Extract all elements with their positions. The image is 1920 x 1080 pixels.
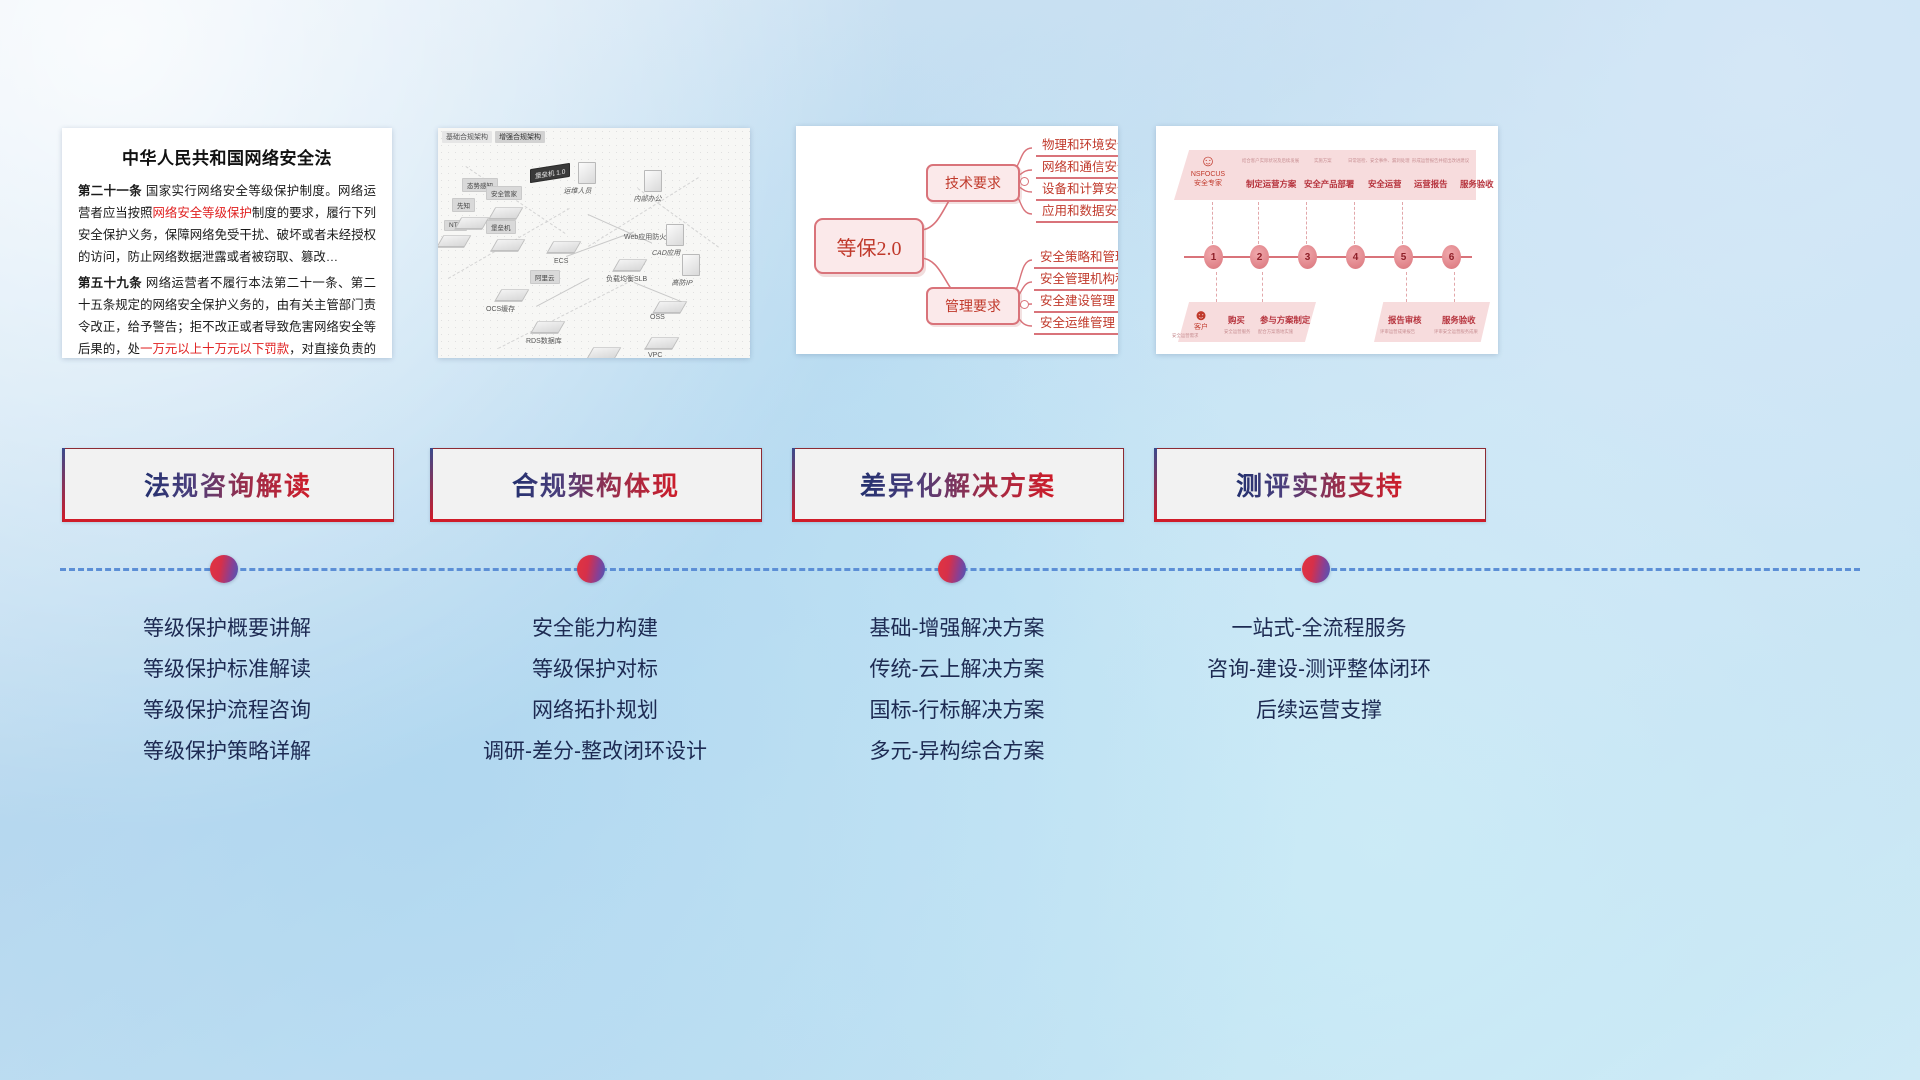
bullet-item: 一站式-全流程服务 bbox=[1154, 608, 1484, 649]
node-icon bbox=[616, 256, 644, 274]
node-icon bbox=[648, 334, 676, 352]
heading-box-2[interactable]: 合规架构体现 bbox=[430, 448, 762, 522]
nsfocus-step-number[interactable]: 6 bbox=[1442, 245, 1461, 269]
nsfocus-bottom-title: 服务验收 bbox=[1442, 314, 1476, 326]
node-label: 高防IP bbox=[671, 278, 694, 288]
nsfocus-bottom-sub: 配合方案落地实施 bbox=[1258, 329, 1293, 335]
bullet-item: 等级保护概要讲解 bbox=[62, 608, 392, 649]
nsfocus-drop-line bbox=[1354, 202, 1355, 244]
node-icon bbox=[682, 254, 700, 276]
bullet-item: 多元-异构综合方案 bbox=[792, 731, 1122, 772]
nsfocus-bottom-title: 报告审核 bbox=[1388, 314, 1422, 326]
node-label: OCS缓存 bbox=[486, 304, 515, 314]
bullet-item: 网络拓扑规划 bbox=[430, 690, 760, 731]
node-label: VPC bbox=[648, 352, 662, 358]
node-label: 内部办公 bbox=[633, 194, 663, 204]
law-document-card: 中华人民共和国网络安全法 第二十一条 国家实行网络安全等级保护制度。网络运营者应… bbox=[62, 128, 392, 358]
nsfocus-timeline-card: ☺ NSFOCUS 安全专家 结合客户实际状况及后续发展 制定运营方案 实施方案… bbox=[1156, 126, 1498, 354]
law-title: 中华人民共和国网络安全法 bbox=[78, 144, 376, 169]
timeline-dot-3[interactable] bbox=[938, 555, 966, 583]
nsfocus-role-sub: 安全运营需求 bbox=[1172, 333, 1198, 339]
nsfocus-step-title: 安全产品部署 bbox=[1304, 178, 1354, 190]
timeline-dot-2[interactable] bbox=[577, 555, 605, 583]
nsfocus-step-number[interactable]: 5 bbox=[1394, 245, 1413, 269]
mindmap-leaf: 安全运维管理 bbox=[1034, 312, 1118, 335]
node-icon bbox=[666, 224, 684, 246]
nsfocus-bottom-sub: 安全运营服务 bbox=[1224, 329, 1250, 335]
node-icon bbox=[578, 162, 596, 184]
node-label: 堡垒机 bbox=[486, 220, 516, 234]
node-label: CAD应用 bbox=[651, 248, 682, 258]
law-article-label-21: 第二十一条 bbox=[78, 184, 142, 198]
bullet-item: 传统-云上解决方案 bbox=[792, 649, 1122, 690]
node-label: 运维人员 bbox=[563, 186, 593, 196]
bullet-column-3: 基础-增强解决方案 传统-云上解决方案 国标-行标解决方案 多元-异构综合方案 bbox=[792, 608, 1122, 772]
nsfocus-step-number[interactable]: 2 bbox=[1250, 245, 1269, 269]
bullet-item: 调研-差分-整改闭环设计 bbox=[430, 731, 760, 772]
heading-label-3: 差异化解决方案 bbox=[860, 466, 1056, 503]
node-label: OSS bbox=[650, 314, 665, 321]
nsfocus-drop-line bbox=[1454, 272, 1455, 302]
nsfocus-step-number[interactable]: 3 bbox=[1298, 245, 1317, 269]
bullet-item: 后续运营支撑 bbox=[1154, 690, 1484, 731]
bullet-item: 等级保护标准解读 bbox=[62, 649, 392, 690]
node-icon bbox=[590, 344, 618, 358]
node-label: 堡垒机 1.0 bbox=[530, 163, 570, 183]
bullet-column-4: 一站式-全流程服务 咨询-建设-测评整体闭环 后续运营支撑 bbox=[1154, 608, 1484, 731]
timeline-dot-1[interactable] bbox=[210, 555, 238, 583]
nsfocus-step-sub: 实施方案 bbox=[1314, 158, 1332, 164]
nsfocus-step-title: 运营报告 bbox=[1414, 178, 1448, 190]
node-label: 阿里云 bbox=[530, 270, 560, 284]
node-label: RDS数据库 bbox=[526, 336, 562, 346]
architecture-diagram: 堡垒机 1.0 态势感知 先知 NTA 安全管家 堡垒机 ECS OCS缓存 R… bbox=[438, 128, 750, 358]
nsfocus-step-title: 服务验收 bbox=[1460, 178, 1494, 190]
nsfocus-axis bbox=[1184, 256, 1472, 258]
nsfocus-bottom-sub: 评审运营成果报告 bbox=[1380, 329, 1415, 335]
bullet-column-2: 安全能力构建 等级保护对标 网络拓扑规划 调研-差分-整改闭环设计 bbox=[430, 608, 760, 772]
nsfocus-bottom-title: 购买 bbox=[1228, 314, 1245, 326]
nsfocus-step-sub: 形成运营报告并提出改进建议 bbox=[1412, 158, 1469, 164]
mindmap-leaf: 物理和环境安全 bbox=[1036, 134, 1118, 157]
nsfocus-customer-role: ☻ 客户 bbox=[1178, 308, 1224, 332]
mindmap-branch-technical: 技术要求 bbox=[926, 164, 1020, 202]
mindmap-leaf: 安全策略和管理制度 bbox=[1034, 246, 1118, 269]
node-icon bbox=[534, 318, 562, 336]
node-icon bbox=[458, 214, 486, 232]
nsfocus-role-label: 客户 bbox=[1194, 324, 1208, 331]
nsfocus-drop-line bbox=[1262, 272, 1263, 302]
mindmap-core-node: 等保2.0 bbox=[814, 218, 924, 274]
customer-icon: ☻ bbox=[1178, 308, 1224, 323]
nsfocus-drop-line bbox=[1306, 202, 1307, 244]
nsfocus-brand-sub: 安全专家 bbox=[1194, 180, 1222, 187]
heading-box-1[interactable]: 法规咨询解读 bbox=[62, 448, 394, 522]
nsfocus-drop-line bbox=[1406, 272, 1407, 302]
heading-box-3[interactable]: 差异化解决方案 bbox=[792, 448, 1124, 522]
mindmap-collapse-dot[interactable] bbox=[1020, 300, 1029, 309]
dengbao-mindmap-card: 等保2.0 技术要求 管理要求 物理和环境安全 网络和通信安全 设备和计算安全 … bbox=[796, 126, 1118, 354]
heading-box-4[interactable]: 测评实施支持 bbox=[1154, 448, 1486, 522]
bullet-item: 等级保护策略详解 bbox=[62, 731, 392, 772]
nsfocus-bottom-title: 参与方案制定 bbox=[1260, 314, 1310, 326]
bullet-item: 咨询-建设-测评整体闭环 bbox=[1154, 649, 1484, 690]
node-label: 负载均衡SLB bbox=[606, 274, 647, 284]
nsfocus-step-number[interactable]: 4 bbox=[1346, 245, 1365, 269]
nsfocus-brand: ☺ NSFOCUS 安全专家 bbox=[1184, 154, 1232, 188]
heading-label-4: 测评实施支持 bbox=[1236, 466, 1404, 503]
mindmap-leaf: 设备和计算安全 bbox=[1036, 178, 1118, 201]
bullet-item: 等级保护流程咨询 bbox=[62, 690, 392, 731]
bullet-item: 国标-行标解决方案 bbox=[792, 690, 1122, 731]
nsfocus-brand-name: NSFOCUS bbox=[1191, 171, 1225, 178]
law-paragraph-21: 第二十一条 国家实行网络安全等级保护制度。网络运营者应当按照网络安全等级保护制度… bbox=[78, 180, 376, 268]
node-label: 先知 bbox=[452, 198, 475, 212]
heading-label-2: 合规架构体现 bbox=[512, 466, 680, 503]
nsfocus-step-number[interactable]: 1 bbox=[1204, 245, 1223, 269]
law-highlight-21: 网络安全等级保护 bbox=[153, 206, 252, 220]
compliance-architecture-card: 基础合规架构 增强合规架构 堡垒机 1.0 态势感知 先知 NTA 安全管家 堡… bbox=[438, 128, 750, 358]
node-label: ECS bbox=[554, 258, 568, 265]
heading-label-1: 法规咨询解读 bbox=[144, 466, 312, 503]
nsfocus-bottom-sub: 评审安全运营服务成果 bbox=[1434, 329, 1478, 335]
node-icon bbox=[494, 236, 522, 254]
bullet-item: 等级保护对标 bbox=[430, 649, 760, 690]
nsfocus-step-sub: 结合客户实际状况及后续发展 bbox=[1242, 158, 1299, 164]
mindmap-branch-management: 管理要求 bbox=[926, 287, 1020, 325]
node-label: 安全管家 bbox=[486, 186, 522, 200]
nsfocus-step-title: 安全运营 bbox=[1368, 178, 1402, 190]
node-icon bbox=[440, 232, 468, 250]
mindmap-leaf: 应用和数据安全 bbox=[1036, 200, 1118, 223]
node-icon bbox=[550, 238, 578, 256]
mindmap-leaf: 网络和通信安全 bbox=[1036, 156, 1118, 179]
nsfocus-drop-line bbox=[1258, 202, 1259, 244]
mindmap-collapse-dot[interactable] bbox=[1020, 177, 1029, 186]
law-paragraph-59: 第五十九条 网络运营者不履行本法第二十一条、第二十五条规定的网络安全保护义务的，… bbox=[78, 272, 376, 358]
nsfocus-drop-line bbox=[1216, 272, 1217, 302]
mindmap-leaf: 安全管理机构和人员 bbox=[1034, 268, 1118, 291]
slide-canvas: 中华人民共和国网络安全法 第二十一条 国家实行网络安全等级保护制度。网络运营者应… bbox=[0, 0, 1920, 1080]
bullet-item: 安全能力构建 bbox=[430, 608, 760, 649]
nsfocus-drop-line bbox=[1402, 202, 1403, 244]
nsfocus-drop-line bbox=[1212, 202, 1213, 244]
timeline-dot-4[interactable] bbox=[1302, 555, 1330, 583]
law-highlight-59-a: 一万元以上十万元以下罚款 bbox=[140, 342, 289, 356]
bullet-item: 基础-增强解决方案 bbox=[792, 608, 1122, 649]
node-icon bbox=[492, 204, 520, 222]
law-article-label-59: 第五十九条 bbox=[78, 276, 142, 290]
node-icon bbox=[644, 170, 662, 192]
bullet-column-1: 等级保护概要讲解 等级保护标准解读 等级保护流程咨询 等级保护策略详解 bbox=[62, 608, 392, 772]
nsfocus-step-sub: 日常巡检、安全事件、漏洞处理 bbox=[1348, 158, 1409, 164]
node-icon bbox=[498, 286, 526, 304]
nsfocus-step-title: 制定运营方案 bbox=[1246, 178, 1296, 190]
security-expert-icon: ☺ bbox=[1184, 154, 1232, 170]
mindmap-leaf: 安全建设管理 bbox=[1034, 290, 1118, 313]
